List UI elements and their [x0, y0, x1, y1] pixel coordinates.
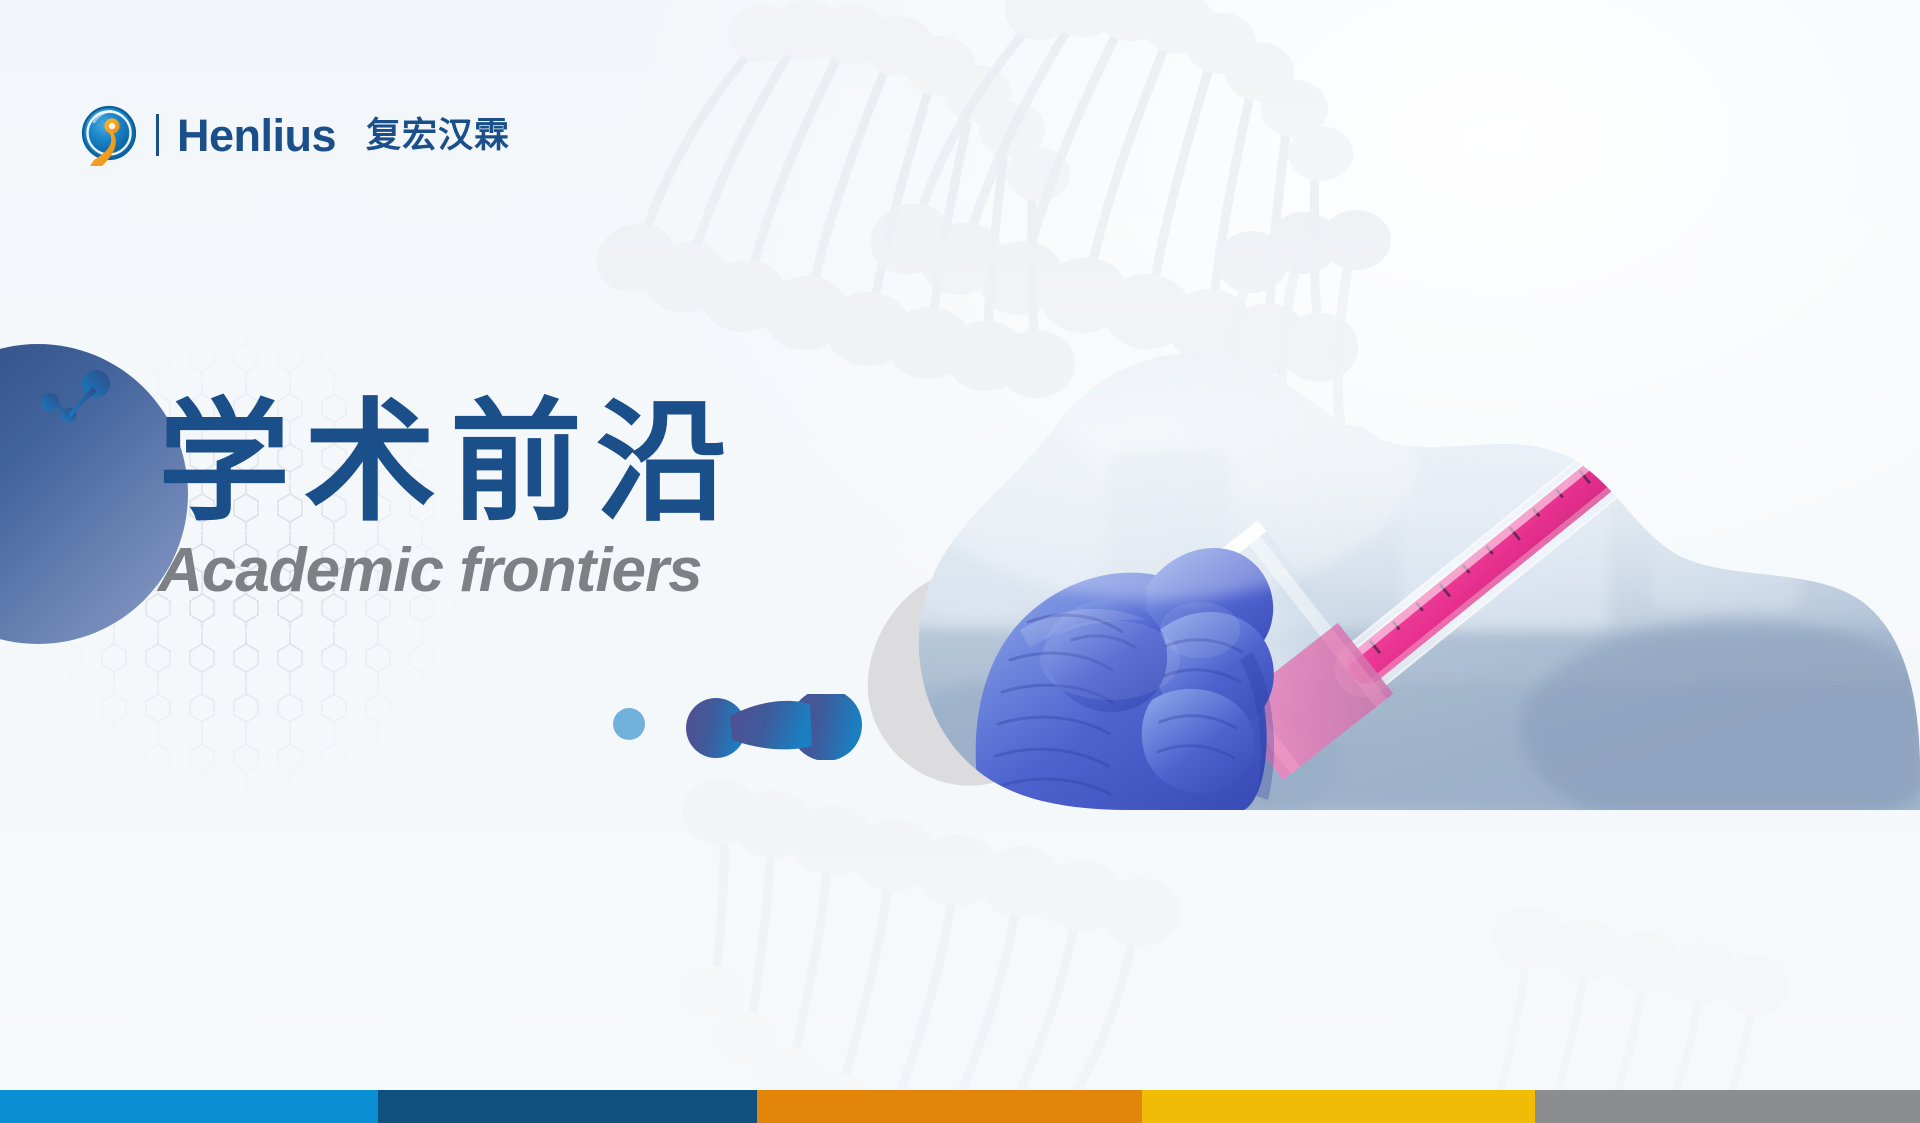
title-block: 学术前沿 Academic frontiers: [158, 392, 898, 605]
page-title-chinese: 学术前沿: [158, 392, 898, 535]
segment-dark-blue: [378, 1090, 757, 1123]
brand-logo[interactable]: Henlius 复宏汉霖: [78, 104, 510, 166]
segment-orange: [757, 1090, 1142, 1123]
lab-photo-gloved-hand-pipette: [860, 330, 1920, 810]
logo-chinese-name: 复宏汉霖: [366, 118, 510, 153]
segment-cyan-blue: [0, 1090, 378, 1123]
segment-gray: [1535, 1090, 1920, 1123]
molecule-icon-dumbbell: [686, 694, 862, 760]
logo-english-name: Henlius: [177, 113, 336, 158]
page-title-english: Academic frontiers: [158, 537, 898, 605]
molecule-icon-small: [40, 370, 112, 428]
segment-yellow: [1142, 1090, 1535, 1123]
footer-color-bar: [0, 1090, 1920, 1123]
accent-dot: [613, 708, 645, 740]
slide-canvas: Henlius 复宏汉霖 学术前沿 Academic frontiers: [0, 0, 1920, 1123]
logo-divider: [156, 114, 159, 156]
henlius-logo-mark-icon: [78, 104, 140, 166]
